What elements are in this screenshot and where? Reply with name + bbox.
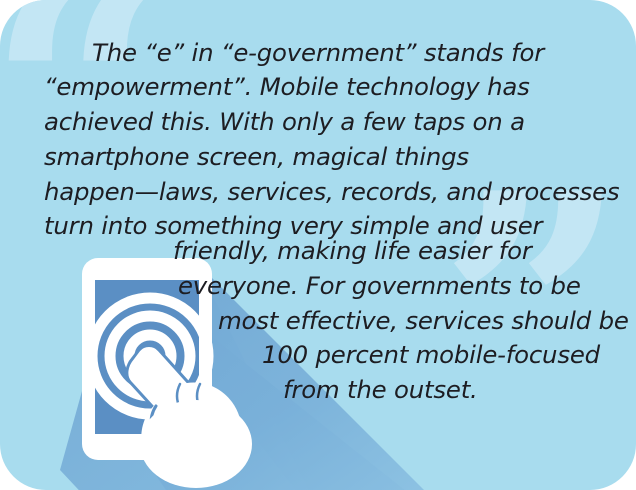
quote-line: happen—laws, services, records, and proc… [44,175,619,210]
quote-line: everyone. For governments to be [178,269,581,304]
quote-line: from the outset. [283,373,478,408]
quote-line: friendly, making life easier for [173,234,532,269]
quote-line: most effective, services should be [218,304,629,339]
quote-line: “empowerment”. Mobile technology has [44,70,530,105]
quote-text-block: The “e” in “e-government” stands for “em… [0,0,636,490]
quote-graphic-canvas: “ ” [0,0,636,490]
quote-card: “ ” [0,0,636,490]
quote-line: The “e” in “e-government” stands for [92,36,544,71]
quote-line: smartphone screen, magical things [44,140,469,175]
quote-line: 100 percent mobile-focused [262,338,600,373]
quote-line: achieved this. With only a few taps on a [44,105,525,140]
